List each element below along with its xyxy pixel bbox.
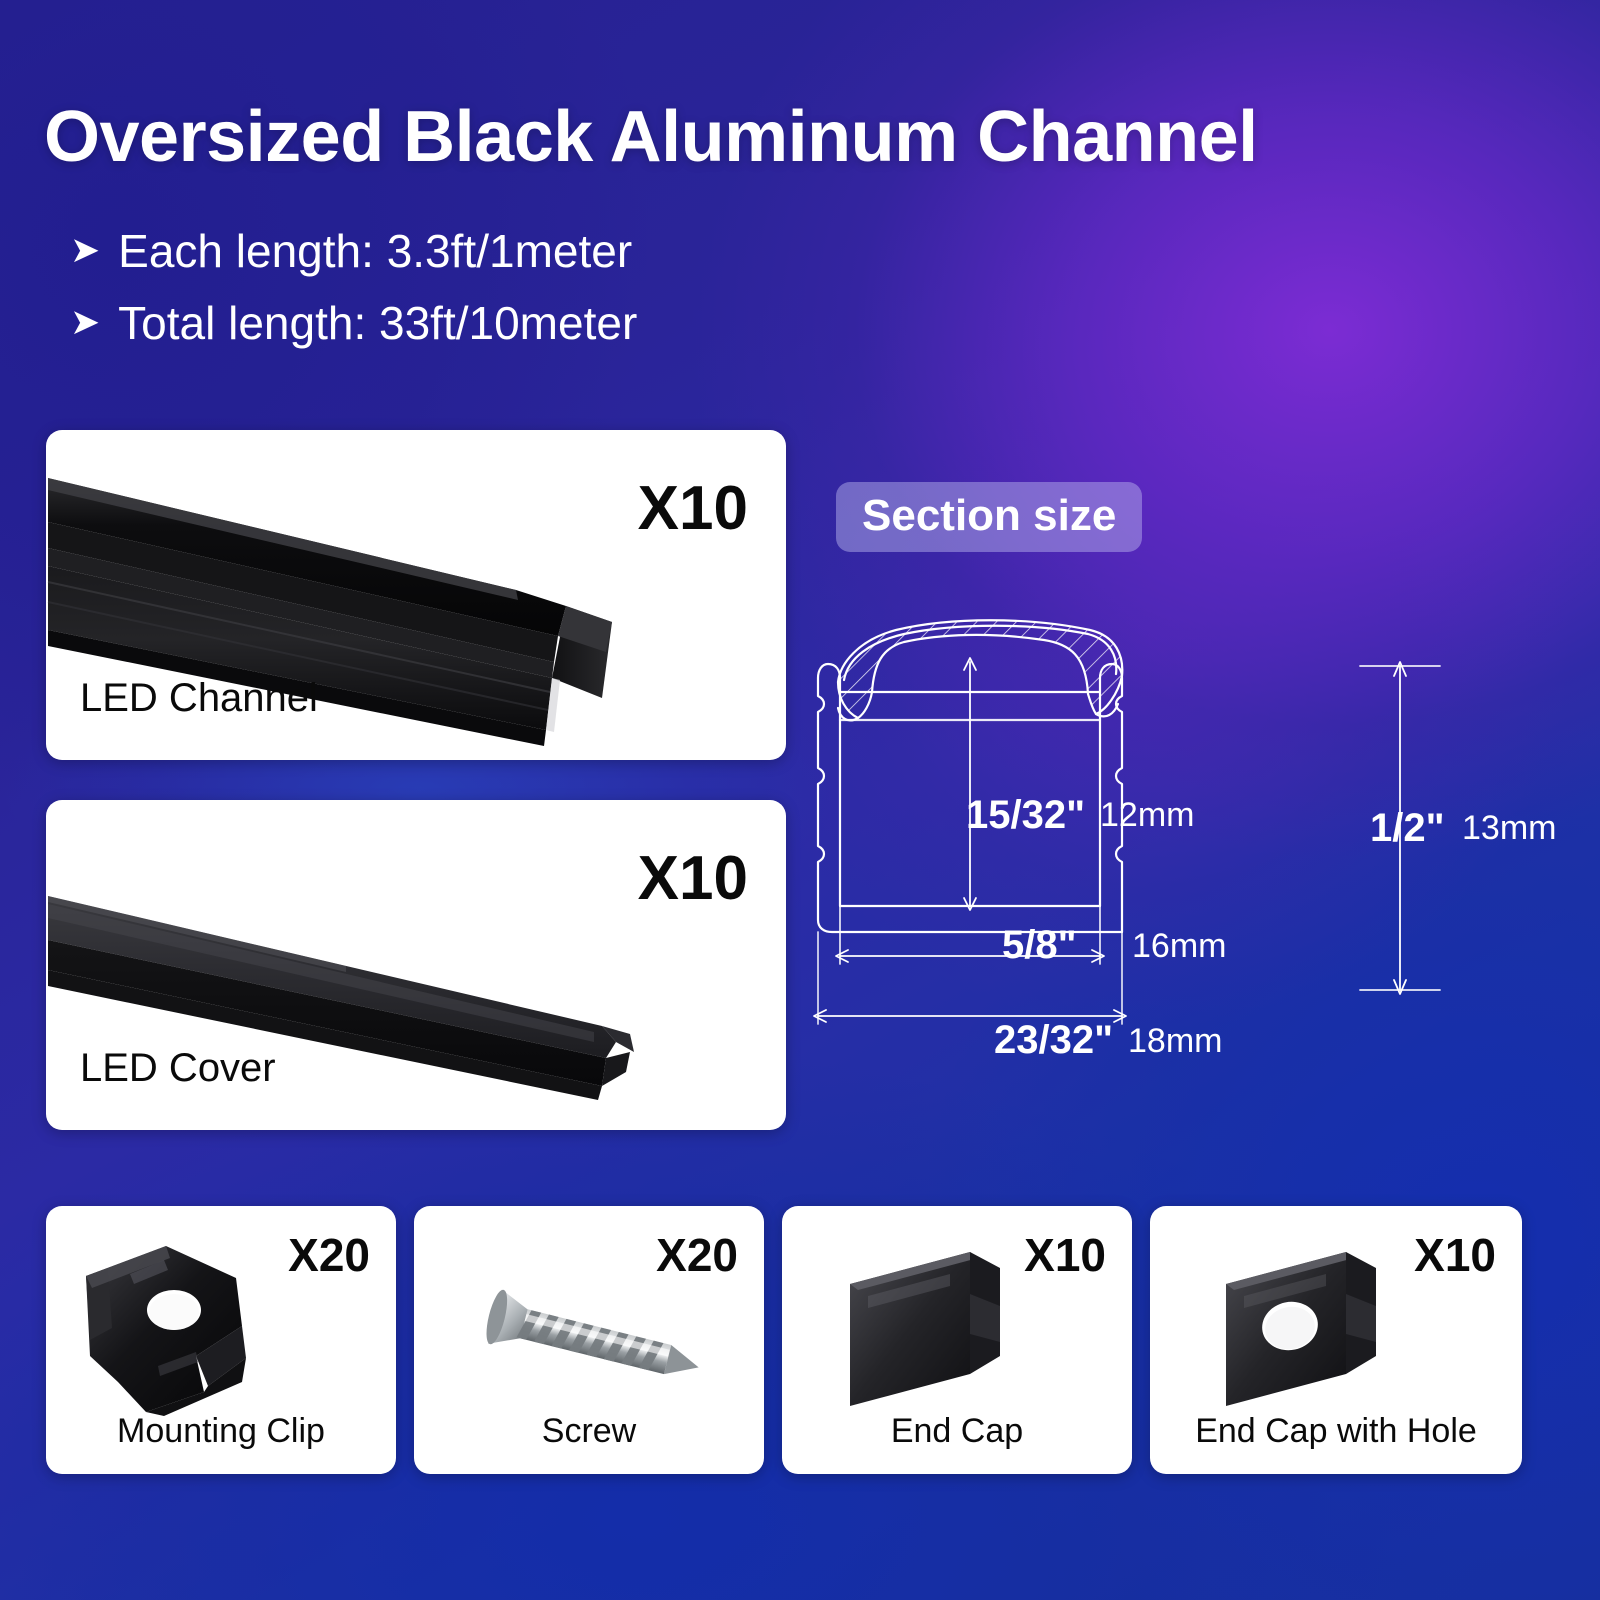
product-quantity: X10 [1414, 1232, 1496, 1278]
product-quantity: X10 [1024, 1232, 1106, 1278]
feature-bullet-list: ➤ Each length: 3.3ft/1meter ➤ Total leng… [70, 228, 637, 372]
feature-bullet-each-length: ➤ Each length: 3.3ft/1meter [70, 228, 637, 274]
product-name: End Cap with Hole [1150, 1414, 1522, 1448]
product-card-mounting-clip[interactable]: X20 Mounting Clip [46, 1206, 396, 1474]
dim-total-width-inch: 23/32" [994, 1020, 1113, 1060]
product-quantity: X10 [638, 848, 748, 910]
product-quantity: X20 [288, 1232, 370, 1278]
product-quantity: X10 [638, 478, 748, 540]
feature-bullet-text: Each length: 3.3ft/1meter [118, 228, 632, 274]
arrow-bullet-icon: ➤ [70, 304, 100, 340]
product-name: Mounting Clip [46, 1414, 396, 1448]
product-card-led-cover[interactable]: X10 LED Cover [46, 800, 786, 1130]
feature-bullet-total-length: ➤ Total length: 33ft/10meter [70, 300, 637, 346]
dim-total-width-mm: 18mm [1128, 1024, 1222, 1058]
dim-total-height-mm: 13mm [1462, 811, 1556, 845]
product-name: Screw [414, 1414, 764, 1448]
product-name: LED Channel [80, 678, 318, 718]
product-card-end-cap[interactable]: X10 End Cap [782, 1206, 1132, 1474]
dim-inner-width-inch: 5/8" [1002, 925, 1077, 965]
page-title: Oversized Black Aluminum Channel [44, 96, 1258, 178]
dim-inner-height-mm: 12mm [1100, 798, 1194, 832]
dim-inner-height-inch: 15/32" [966, 795, 1085, 835]
arrow-bullet-icon: ➤ [70, 232, 100, 268]
product-quantity: X20 [656, 1232, 738, 1278]
product-card-end-cap-with-hole[interactable]: X10 End Cap with Hole [1150, 1206, 1522, 1474]
dim-total-height-inch: 1/2" [1370, 808, 1445, 848]
feature-bullet-text: Total length: 33ft/10meter [118, 300, 637, 346]
product-card-screw[interactable]: X20 Screw [414, 1206, 764, 1474]
product-card-led-channel[interactable]: X10 LED Channel [46, 430, 786, 760]
product-name: LED Cover [80, 1048, 276, 1088]
section-size-badge: Section size [836, 482, 1142, 552]
product-name: End Cap [782, 1414, 1132, 1448]
dim-inner-width-mm: 16mm [1132, 929, 1226, 963]
